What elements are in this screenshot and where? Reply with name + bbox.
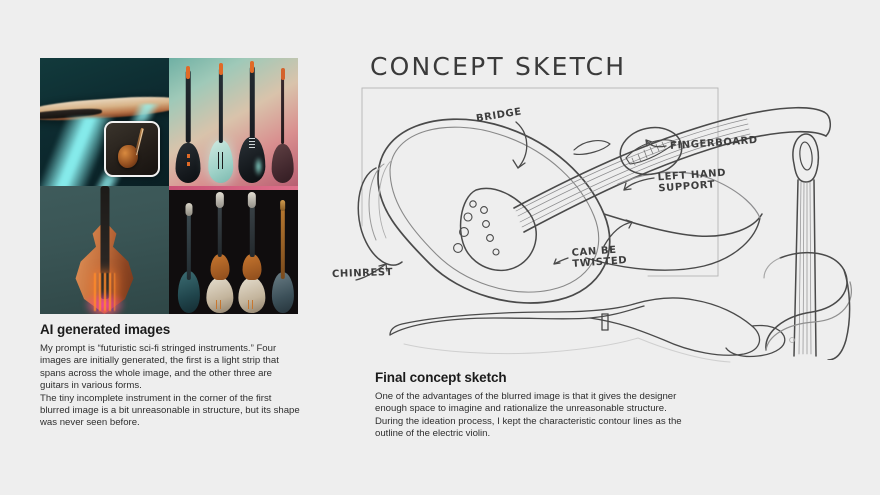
side-profile-view (390, 298, 785, 362)
inset-highlight-box (104, 121, 160, 177)
neck-flange (574, 141, 610, 155)
concept-sketch-panel: CONCEPT SKETCH (318, 18, 870, 363)
final-sketch-caption: Final concept sketch One of the advantag… (375, 370, 695, 441)
ai-images-caption: AI generated images My prompt is “futuri… (40, 322, 302, 430)
neck-left-edge (794, 180, 798, 356)
front-view-strings (799, 182, 811, 354)
tail-contour (604, 214, 762, 236)
pegbox-hole (799, 141, 814, 170)
ai-image-cell-bottom-left (40, 186, 169, 314)
body-swirl-upper (766, 253, 847, 350)
sitar-instrument-4 (270, 200, 296, 313)
ai-images-caption-paragraph-2: The tiny incomplete instrument in the co… (40, 393, 302, 430)
sitar-instrument-2 (205, 192, 235, 312)
teardrop-instrument-2 (206, 63, 234, 183)
neck-right-edge (814, 180, 816, 356)
final-sketch-caption-paragraph: One of the advantages of the blurred ima… (375, 391, 695, 441)
ai-image-cell-top-right (169, 58, 298, 186)
pink-top-border (169, 186, 298, 190)
ai-image-grid-wrapper (40, 58, 298, 314)
teardrop-instrument-3 (237, 61, 267, 184)
sitar-instrument-3 (237, 192, 267, 312)
final-sketch-caption-body: One of the advantages of the blurred ima… (375, 391, 695, 441)
teardrop-instrument-4 (270, 68, 296, 183)
ai-images-caption-title: AI generated images (40, 322, 302, 337)
ai-images-caption-body: My prompt is “futuristic sci-fi stringed… (40, 343, 302, 430)
ai-image-cell-bottom-right (169, 186, 298, 314)
final-sketch-caption-title: Final concept sketch (375, 370, 695, 385)
pegbox-outline (793, 134, 818, 182)
ai-generated-image-grid (40, 58, 298, 314)
concept-sketch-title: CONCEPT SKETCH (370, 52, 626, 81)
annotation-chinrest: CHINREST (332, 267, 394, 280)
ai-image-cell-top-left (40, 58, 169, 186)
teardrop-instrument-1 (174, 66, 202, 184)
violin-body-outline (378, 119, 610, 303)
front-view-violin-sketch (750, 130, 870, 360)
glowing-strings (94, 273, 116, 311)
annotation-can-be-twisted: CAN BE TWISTED (571, 244, 627, 270)
sitar-instrument-1 (175, 203, 202, 313)
ai-images-caption-paragraph-1: My prompt is “futuristic sci-fi stringed… (40, 343, 302, 393)
slide-root: AI generated images My prompt is “futuri… (0, 0, 880, 495)
